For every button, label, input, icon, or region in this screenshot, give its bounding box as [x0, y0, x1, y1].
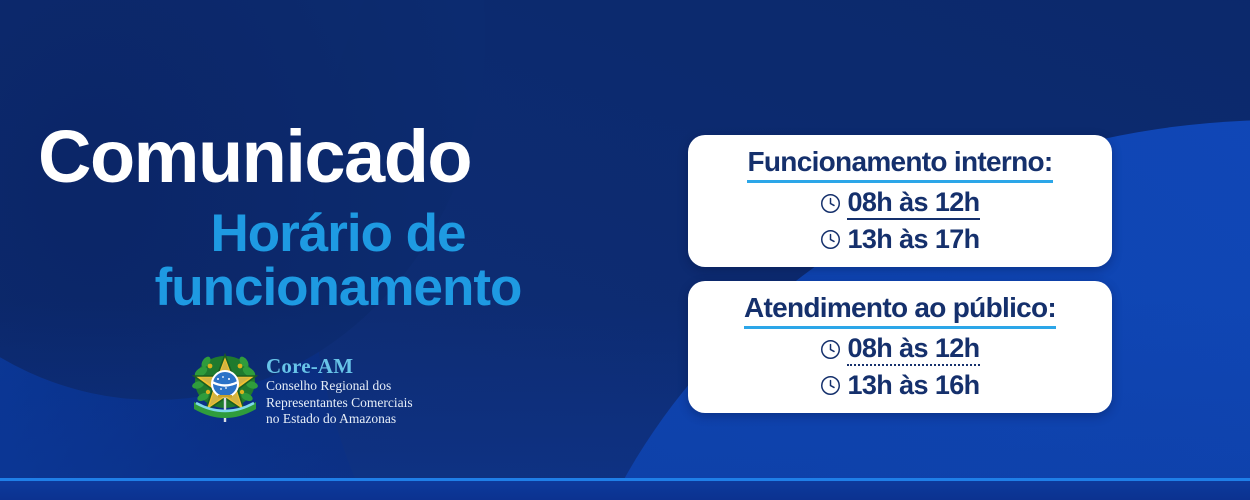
page-subtitle: Horário de funcionamento [38, 207, 638, 315]
schedule-card-public-title: Atendimento ao público: [744, 291, 1056, 329]
schedule-card-internal: Funcionamento interno: 08h às 12h 13h às… [688, 135, 1112, 267]
clock-icon [820, 229, 841, 250]
organization-subtitle-line-2: Representantes Comerciais [266, 395, 413, 411]
page-subtitle-line-1: Horário de [210, 204, 465, 263]
page-subtitle-line-2: funcionamento [38, 261, 638, 315]
brazil-coat-of-arms-icon [192, 352, 258, 428]
schedule-time-row: 08h às 12h [706, 333, 1094, 366]
schedule-card-internal-title: Funcionamento interno: [747, 145, 1052, 183]
page-title: Comunicado [38, 120, 638, 194]
organization-logo-text: Core-AM Conselho Regional dos Representa… [266, 353, 413, 427]
schedule-time-label: 13h às 16h [847, 370, 979, 401]
schedule-time-label: 08h às 12h [847, 333, 979, 366]
clock-icon [820, 193, 841, 214]
organization-name: Core-AM [266, 355, 413, 377]
communication-banner: Comunicado Horário de funcionamento [0, 0, 1250, 500]
schedule-time-row: 13h às 17h [706, 224, 1094, 255]
schedule-time-row: 13h às 16h [706, 370, 1094, 401]
schedule-time-label: 08h às 12h [847, 187, 979, 220]
schedule-card-public: Atendimento ao público: 08h às 12h 13h à… [688, 281, 1112, 413]
organization-logo: Core-AM Conselho Regional dos Representa… [192, 352, 413, 428]
clock-icon [820, 339, 841, 360]
clock-icon [820, 375, 841, 396]
schedule-time-label: 13h às 17h [847, 224, 979, 255]
left-content-column: Comunicado Horário de funcionamento [0, 0, 660, 500]
organization-subtitle-line-1: Conselho Regional dos [266, 378, 413, 394]
schedule-cards: Funcionamento interno: 08h às 12h 13h às… [688, 135, 1112, 413]
organization-subtitle-line-3: no Estado do Amazonas [266, 411, 413, 427]
schedule-time-row: 08h às 12h [706, 187, 1094, 220]
